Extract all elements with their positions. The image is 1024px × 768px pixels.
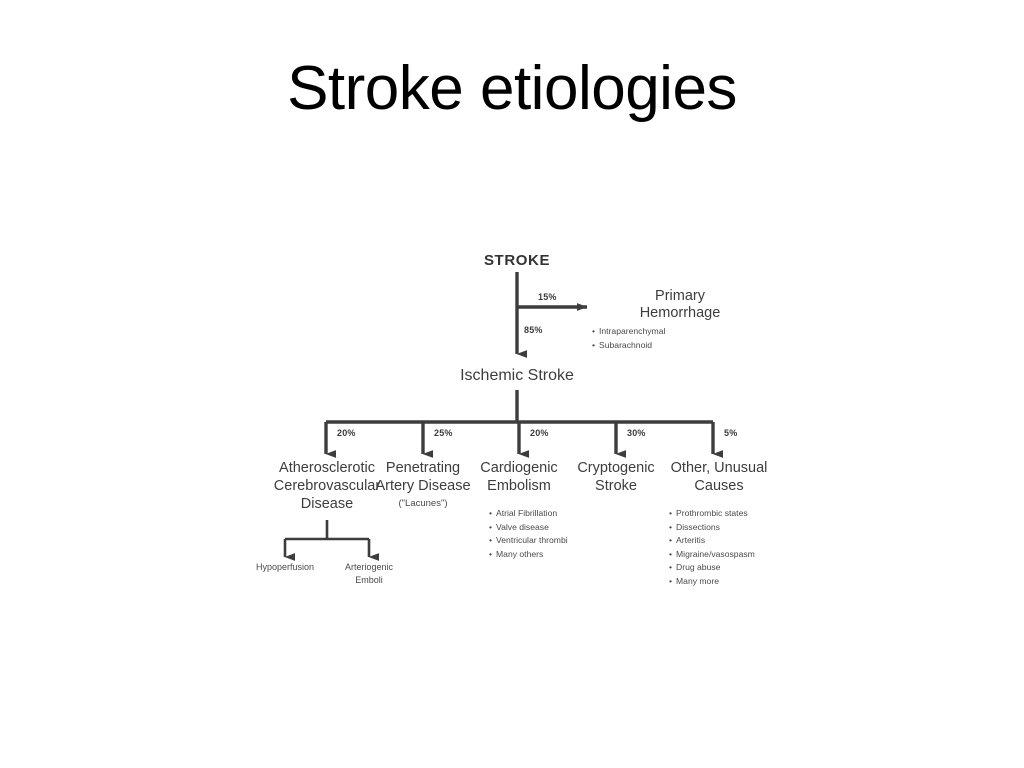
- node-stroke: STROKE: [484, 252, 550, 269]
- node-subtype-4-line1: Other, Unusual: [671, 460, 768, 477]
- edge-label-subtype-4-pct: 5%: [724, 428, 737, 438]
- bullets-cardiogenic-embolism: Atrial Fibrillation Valve disease Ventri…: [489, 507, 568, 561]
- node-subtype-2-line2: Embolism: [487, 478, 551, 495]
- list-item: Ventricular thrombi: [489, 534, 568, 548]
- list-item: Valve disease: [489, 521, 568, 535]
- list-item: Subarachnoid: [592, 339, 665, 353]
- node-subtype-4-line2: Causes: [694, 478, 743, 495]
- node-subtype-0-line3: Disease: [301, 496, 353, 513]
- node-primary-hemorrhage-line1: Primary: [655, 288, 705, 305]
- node-subtype-0-line2: Cerebrovascular: [274, 478, 380, 495]
- list-item: Atrial Fibrillation: [489, 507, 568, 521]
- list-item: Drug abuse: [669, 561, 755, 575]
- node-arteriogenic-emboli-line2: Emboli: [355, 575, 383, 585]
- list-item: Intraparenchymal: [592, 325, 665, 339]
- node-subtype-2-line1: Cardiogenic: [480, 460, 557, 477]
- page-title: Stroke etiologies: [0, 58, 1024, 120]
- node-ischemic-stroke: Ischemic Stroke: [460, 367, 574, 386]
- list-item: Many others: [489, 548, 568, 562]
- edge-label-hemorrhage-pct: 15%: [538, 292, 557, 302]
- edge-label-subtype-2-pct: 20%: [530, 428, 549, 438]
- edge-label-subtype-0-pct: 20%: [337, 428, 356, 438]
- stroke-etiology-flowchart: STROKE 15% 85% Primary Hemorrhage Intrap…: [232, 232, 792, 610]
- list-item: Dissections: [669, 521, 755, 535]
- node-hypoperfusion: Hypoperfusion: [256, 562, 314, 572]
- edge-label-ischemic-pct: 85%: [524, 325, 543, 335]
- list-item: Arteritis: [669, 534, 755, 548]
- node-arteriogenic-emboli-line1: Arteriogenic: [345, 562, 393, 572]
- node-subtype-0-line1: Atherosclerotic: [279, 460, 375, 477]
- slide-canvas: Stroke etiologies: [0, 0, 1024, 768]
- node-subtype-1-line1: Penetrating: [386, 460, 460, 477]
- bullets-primary-hemorrhage: Intraparenchymal Subarachnoid: [592, 325, 665, 352]
- node-subtype-3-line2: Stroke: [595, 478, 637, 495]
- bullets-other-unusual-causes: Prothrombic states Dissections Arteritis…: [669, 507, 755, 588]
- list-item: Migraine/vasospasm: [669, 548, 755, 562]
- node-subtype-3-line1: Cryptogenic: [577, 460, 654, 477]
- node-primary-hemorrhage-line2: Hemorrhage: [640, 305, 721, 322]
- node-subtype-1-sublabel: ("Lacunes"): [399, 498, 448, 509]
- list-item: Prothrombic states: [669, 507, 755, 521]
- edge-label-subtype-1-pct: 25%: [434, 428, 453, 438]
- node-subtype-1-line2: Artery Disease: [375, 478, 470, 495]
- list-item: Many more: [669, 575, 755, 589]
- edge-label-subtype-3-pct: 30%: [627, 428, 646, 438]
